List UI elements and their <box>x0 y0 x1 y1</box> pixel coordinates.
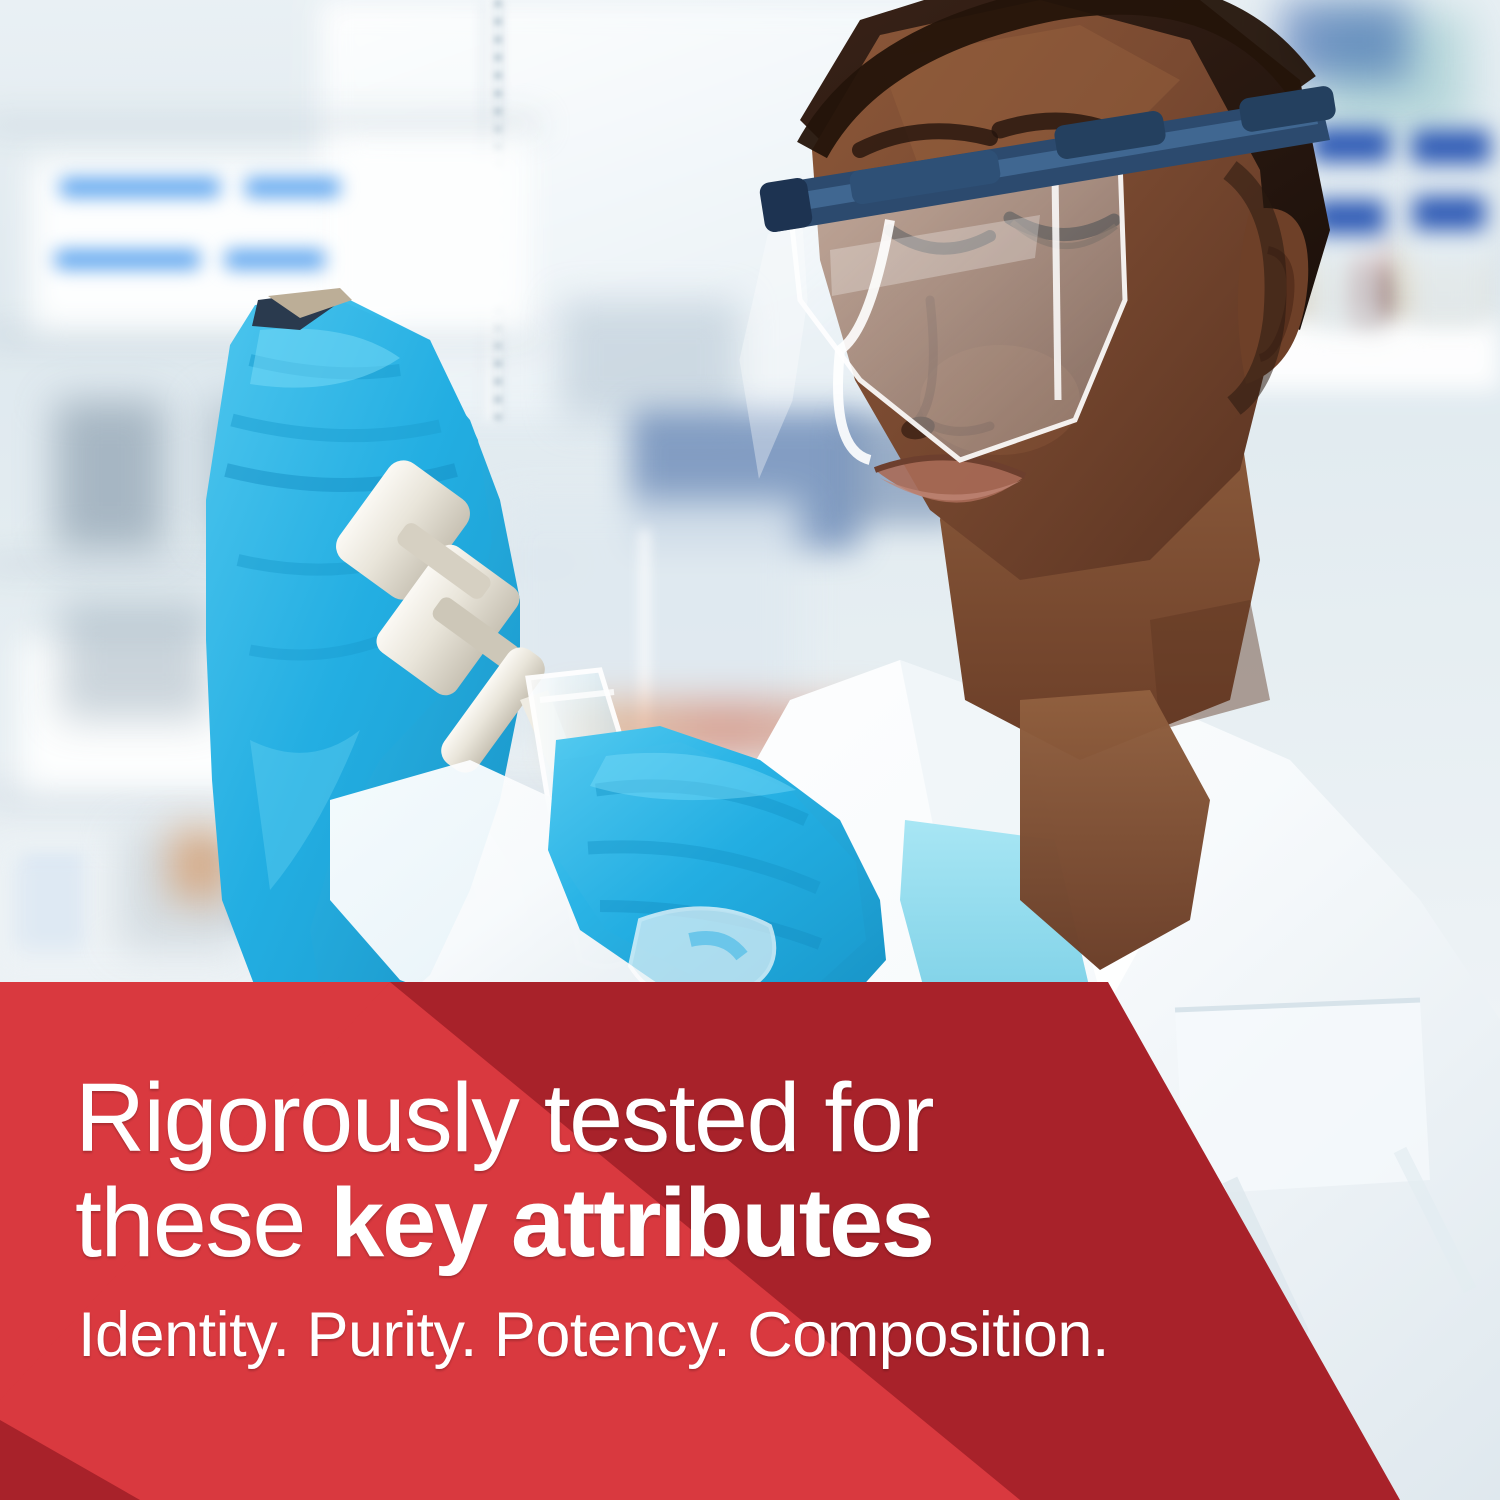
banner-headline: Rigorously tested for these key attribut… <box>75 1065 1085 1275</box>
promo-banner-image: Rigorously tested for these key attribut… <box>0 0 1500 1500</box>
banner-text-block: Rigorously tested for these key attribut… <box>0 960 1120 1500</box>
red-banner: Rigorously tested for these key attribut… <box>0 960 1500 1500</box>
headline-bold-part: key attributes <box>330 1168 933 1277</box>
banner-subline: Identity. Purity. Potency. Composition. <box>78 1300 1138 1370</box>
